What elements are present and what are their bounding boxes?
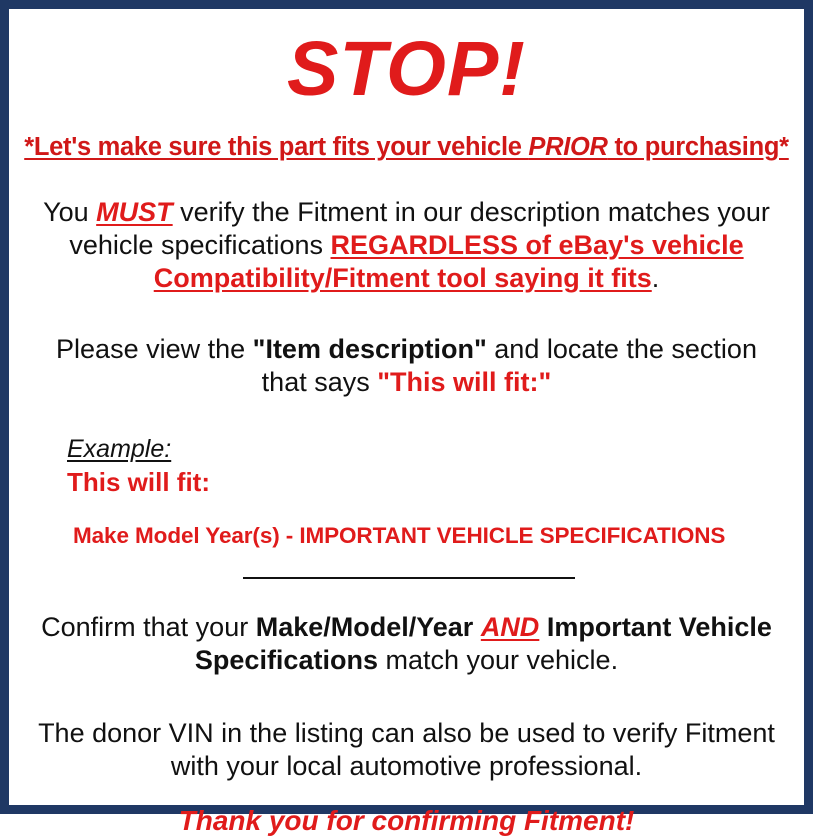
divider-container: [19, 577, 794, 579]
confirm-make-model-year: Make/Model/Year: [256, 612, 481, 642]
paragraph-must-verify: You MUST verify the Fitment in our descr…: [19, 196, 794, 295]
example-label: Example:: [67, 435, 171, 465]
example-fit-heading: This will fit:: [67, 467, 794, 498]
paragraph-item-description: Please view the "Item description" and l…: [19, 333, 794, 399]
example-label-row: Example:: [67, 435, 794, 465]
this-will-fit-quote: "This will fit:": [377, 367, 551, 397]
horizontal-rule-icon: [243, 577, 575, 579]
example-spec-line: Make Model Year(s) - IMPORTANT VEHICLE S…: [73, 522, 794, 549]
must-emphasis: MUST: [96, 197, 173, 227]
must-seg-1: You: [43, 197, 96, 227]
banner-text-after: to purchasing*: [608, 133, 789, 161]
confirm-and-emphasis: AND: [481, 612, 540, 642]
desc-seg-1: Please view the: [56, 334, 253, 364]
banner-text-prior: PRIOR: [528, 133, 607, 161]
paragraph-confirm-match: Confirm that your Make/Model/Year AND Im…: [19, 611, 794, 677]
page-title: STOP!: [19, 31, 794, 108]
must-seg-3: .: [652, 263, 660, 293]
fitment-notice-card: STOP! *Let's make sure this part fits yo…: [0, 0, 813, 814]
paragraph-donor-vin: The donor VIN in the listing can also be…: [19, 717, 794, 783]
confirm-seg-1: Confirm that your: [41, 612, 256, 642]
confirm-seg-2: match your vehicle.: [378, 645, 618, 675]
item-description-label: "Item description": [253, 334, 487, 364]
thank-you-line: Thank you for confirming Fitment!: [19, 804, 794, 838]
banner-text-before: *Let's make sure this part fits your veh…: [24, 133, 528, 161]
notice-content: STOP! *Let's make sure this part fits yo…: [9, 9, 804, 805]
example-block: Example: This will fit: Make Model Year(…: [19, 435, 794, 549]
banner-warning-line: *Let's make sure this part fits your veh…: [19, 133, 794, 162]
